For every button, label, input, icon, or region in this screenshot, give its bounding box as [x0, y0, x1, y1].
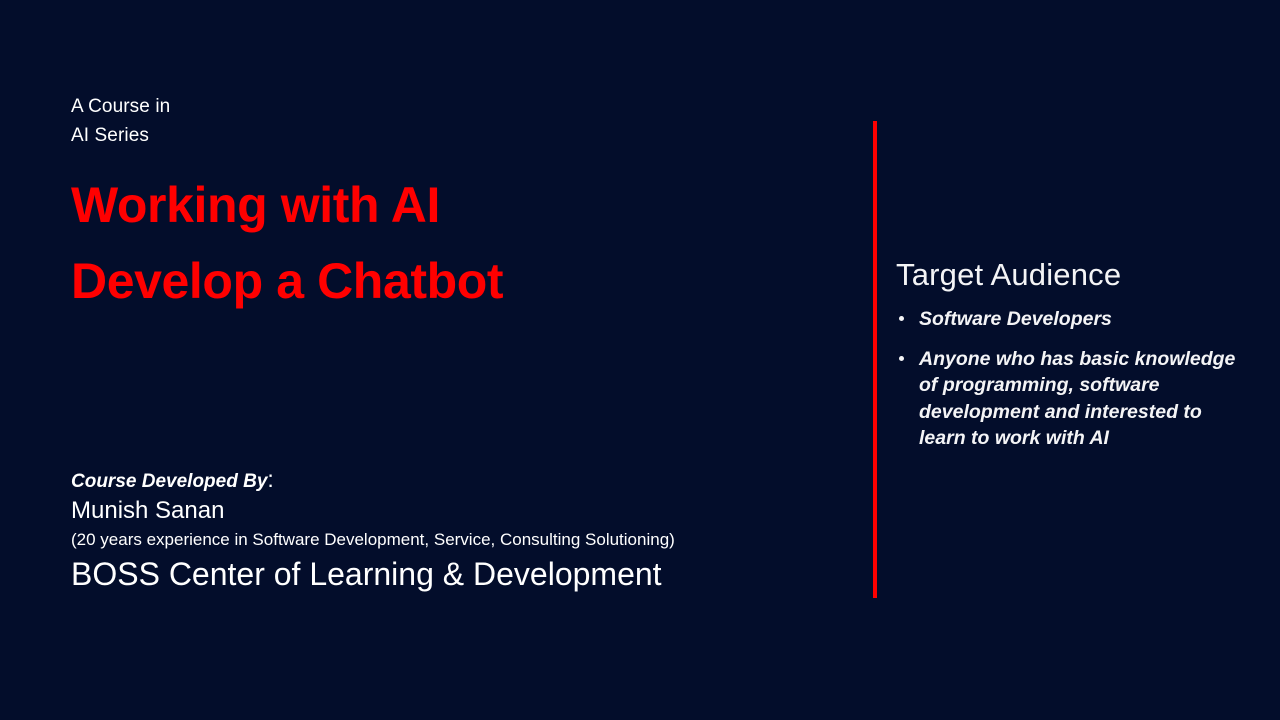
course-title-line-2: Develop a Chatbot — [71, 243, 861, 319]
list-item-label: Anyone who has basic knowledge of progra… — [919, 348, 1235, 450]
author-name: Munish Sanan — [71, 495, 861, 527]
eyebrow-line-2: AI Series — [71, 121, 861, 150]
list-item-label: Software Developers — [919, 308, 1112, 330]
target-audience-list: Software Developers Anyone who has basic… — [896, 306, 1246, 452]
developed-by-label: Course Developed By: — [71, 466, 861, 495]
author-credits-block: Course Developed By: Munish Sanan (20 ye… — [71, 466, 861, 596]
course-series-eyebrow: A Course in AI Series — [71, 92, 861, 150]
list-item: Software Developers — [896, 306, 1246, 333]
developed-by-colon: : — [267, 466, 273, 492]
target-audience-heading: Target Audience — [896, 254, 1246, 296]
organization-name: BOSS Center of Learning & Development — [71, 552, 861, 596]
course-title: Working with AI Develop a Chatbot — [71, 167, 861, 319]
presentation-slide: A Course in AI Series Working with AI De… — [0, 0, 1280, 720]
right-content-column: Target Audience Software Developers Anyo… — [896, 254, 1246, 465]
bullet-dot-icon — [899, 316, 904, 321]
course-title-line-1: Working with AI — [71, 167, 861, 243]
list-item: Anyone who has basic knowledge of progra… — [896, 346, 1246, 452]
eyebrow-line-1: A Course in — [71, 92, 861, 121]
vertical-divider-line — [873, 121, 877, 598]
developed-by-text: Course Developed By — [71, 471, 267, 492]
bullet-dot-icon — [899, 356, 904, 361]
author-experience: (20 years experience in Software Develop… — [71, 527, 861, 552]
left-content-column: A Course in AI Series Working with AI De… — [71, 92, 861, 319]
